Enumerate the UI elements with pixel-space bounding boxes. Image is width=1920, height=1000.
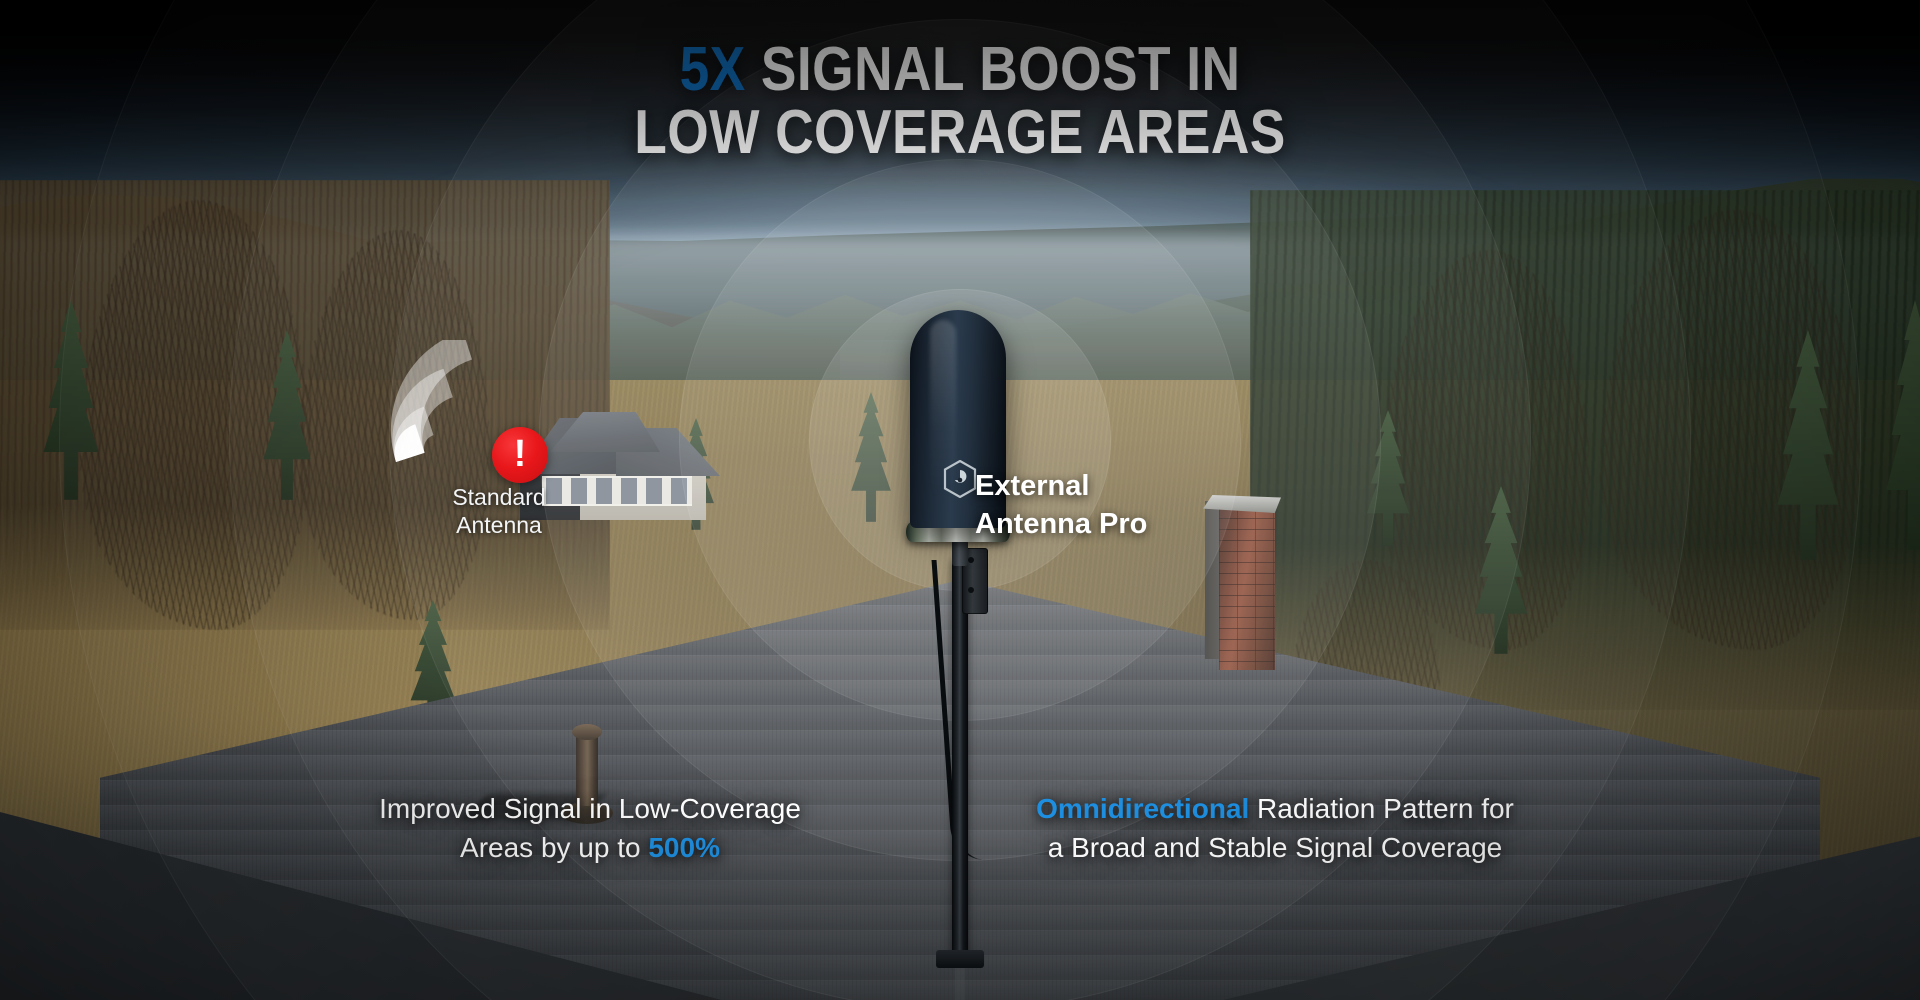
external-antenna-label: External Antenna Pro: [975, 468, 1275, 543]
antenna-connector-neck: [952, 540, 968, 566]
caption-left-highlight: 500%: [648, 832, 720, 863]
antenna-mast-pole: [952, 560, 968, 960]
benefit-caption-left: Improved Signal in Low-Coverage Areas by…: [300, 790, 880, 867]
conifer-tree: [28, 300, 114, 500]
external-antenna-label-line1: External: [975, 470, 1089, 502]
external-antenna-label-line2: Antenna Pro: [975, 508, 1147, 540]
standard-antenna-label-line1: Standard: [452, 484, 545, 510]
external-antenna-product[interactable]: [902, 310, 1018, 870]
caption-right-line2: a Broad and Stable Signal Coverage: [965, 829, 1585, 868]
hexagon-brand-logo-icon: [943, 460, 977, 498]
page-title: 5X SIGNAL BOOST IN LOW COVERAGE AREAS: [134, 38, 1785, 164]
roof-vent-cap: [572, 724, 602, 740]
headline-accent: 5X: [680, 35, 746, 104]
caption-right-line1: Omnidirectional Radiation Pattern for: [965, 790, 1585, 829]
promo-banner: ! 5X SIGNAL BOOST IN LOW COVERAGE AREAS …: [0, 0, 1920, 1000]
caption-right-line1-rest: Radiation Pattern for: [1249, 793, 1514, 824]
standard-antenna-label: Standard Antenna: [404, 483, 594, 539]
headline-line1-rest: SIGNAL BOOST IN: [746, 35, 1241, 104]
benefit-caption-right: Omnidirectional Radiation Pattern for a …: [965, 790, 1585, 867]
standard-antenna-label-line2: Antenna: [456, 512, 542, 538]
caption-left-line2: Areas by up to 500%: [300, 829, 880, 868]
warning-glyph: !: [514, 435, 527, 473]
conifer-tree: [250, 330, 324, 500]
warning-exclamation-icon: !: [492, 427, 548, 483]
caption-right-highlight: Omnidirectional: [1036, 793, 1249, 824]
antenna-mast-foot: [936, 950, 984, 968]
headline-line2: LOW COVERAGE AREAS: [134, 101, 1785, 164]
caption-left-line2-prefix: Areas by up to: [460, 832, 648, 863]
caption-left-line1: Improved Signal in Low-Coverage: [300, 790, 880, 829]
